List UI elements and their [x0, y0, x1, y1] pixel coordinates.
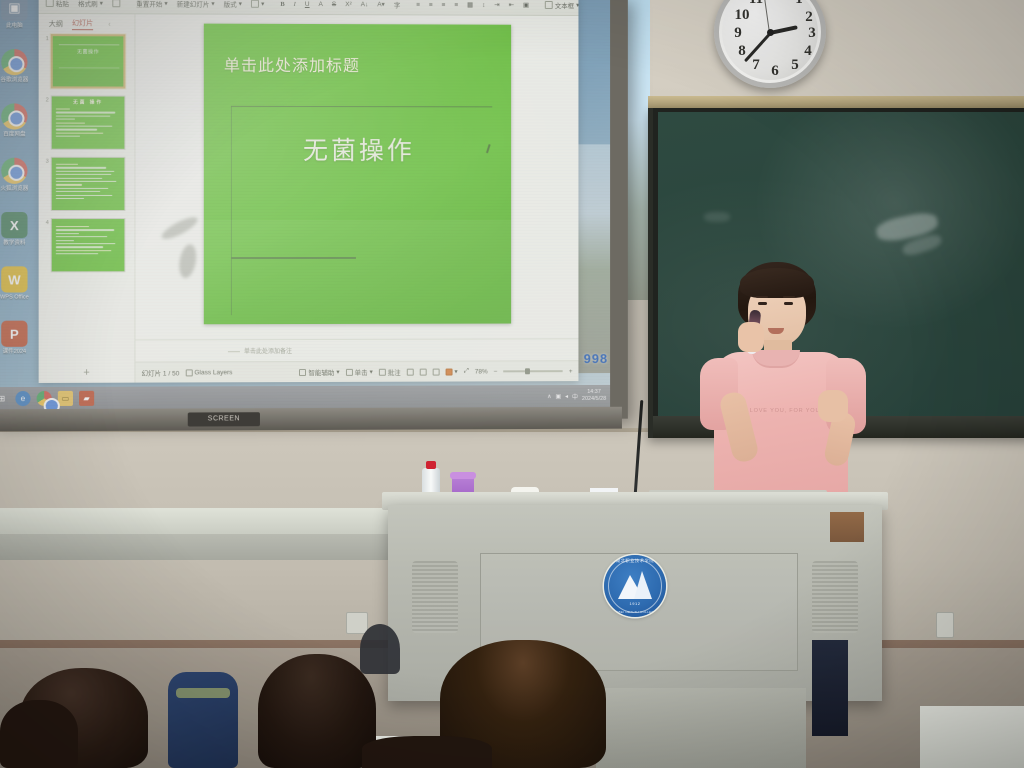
start-button[interactable]: ⊞ [0, 391, 9, 406]
desktop-icon-list: ▣ 此电脑 谷歌浏览器 百度网盘 火狐浏览器 [0, 0, 39, 375]
this-pc-glyph: ▣ [1, 0, 27, 21]
slideshow-button[interactable]: ▾ [446, 368, 458, 376]
chrome-glyph [1, 103, 27, 129]
instructor: LOVE YOU, FOR YOU [690, 262, 870, 512]
thumbnail-row[interactable]: 1 无菌操作 [43, 34, 131, 88]
podium-speaker-right [812, 561, 858, 633]
collapse-panel-icon[interactable]: ‹ [108, 21, 110, 28]
chrome-icon[interactable] [37, 390, 52, 405]
thumbnail-row[interactable]: 4 [43, 218, 131, 272]
powerpoint-icon[interactable]: P 课件2024 [0, 321, 37, 369]
zoom-level-label[interactable]: 78% [475, 368, 488, 375]
instructor-eyebrow-left [756, 296, 768, 298]
supply-table-front [0, 534, 392, 560]
slide-lower-tint [204, 220, 511, 324]
desktop-icon-label: WPS Office [0, 294, 37, 301]
backpack [168, 672, 238, 768]
projected-image: ▣ 此电脑 谷歌浏览器 百度网盘 火狐浏览器 [0, 0, 610, 409]
align-right-button[interactable]: ≡ [439, 0, 449, 9]
powerpoint-glyph: P [1, 321, 27, 347]
projector-osd-text: 998 [584, 351, 608, 366]
chrome-glyph [1, 158, 27, 184]
outline-tab[interactable]: 大纲 [49, 19, 63, 29]
instructor-hand-left [738, 322, 764, 352]
thumbnail-body-lines [56, 164, 121, 201]
chalk-smudge [704, 212, 730, 222]
windows-taskbar[interactable]: ⊞ e ▭ ▰ ∧ ▣ ◂ 中 14:37 2024/5/28 [0, 385, 610, 409]
instructor-shirt-text: LOVE YOU, FOR YOU [742, 408, 828, 414]
thumbnail-list[interactable]: 1 无菌操作 2 无菌 操作 [39, 32, 135, 365]
thumbnail-number: 4 [43, 218, 49, 272]
wps-presentation-window[interactable]: 粘贴 格式刷▾ 重置开始▾ 新建幻灯片▾ 版式▾ ▾ B I U A S X² … [39, 0, 579, 383]
slide-thumbnail-4[interactable] [51, 218, 126, 272]
chrome-glyph [1, 49, 27, 75]
network-icon[interactable]: ▣ [556, 393, 562, 400]
line-spacing-button[interactable]: ↕ [479, 0, 488, 9]
font-color-button[interactable]: A▾ [374, 0, 388, 9]
reset-label: 重置开始 [136, 0, 162, 8]
smart-assist-button[interactable]: 智能辅助▾ [299, 367, 339, 377]
edge-icon[interactable]: e [15, 391, 30, 406]
align-left-button[interactable]: ≡ [413, 0, 423, 9]
student-head-5 [362, 736, 492, 768]
slide-thumbnail-3[interactable] [51, 157, 126, 211]
theme-name[interactable]: Glass Layers [185, 369, 232, 376]
seated-person-silhouette [812, 640, 848, 736]
thumbnail-body-lines [56, 109, 121, 140]
clock-numeral: 1 [789, 0, 809, 8]
emblem-mountain-shape-2 [634, 571, 652, 599]
desktop-icon-label: 课件2024 [0, 349, 37, 356]
new-slide-button[interactable]: 新建幻灯片▾ [174, 0, 218, 10]
thumbnail-heading: 无菌 操作 [52, 99, 125, 105]
backpack-strap [176, 688, 230, 698]
theme-label: Glass Layers [194, 369, 232, 376]
clock-center-pin [767, 29, 774, 36]
clock-numeral: 11 [746, 0, 766, 8]
thumbnail-number: 3 [43, 157, 49, 211]
thumbnail-number: 1 [43, 34, 49, 88]
emblem-year: 1912 [604, 601, 666, 606]
zoom-slider[interactable] [503, 370, 562, 372]
clock-numeral: 3 [802, 25, 822, 42]
zoom-in-button[interactable]: + [569, 368, 573, 375]
wps-glyph: W [1, 266, 27, 292]
blackboard-top-molding [648, 96, 1024, 108]
new-slide-label: 新建幻灯片 [177, 0, 210, 9]
volume-icon[interactable]: ◂ [565, 393, 568, 400]
slide-main-heading[interactable]: 无菌操作 [303, 131, 415, 167]
char-spacing-button[interactable]: A↓ [358, 0, 372, 9]
chrome-icon-3[interactable]: 火狐浏览器 [0, 158, 37, 206]
taskbar-clock[interactable]: 14:37 2024/5/28 [582, 389, 606, 403]
instructor-eye-left [758, 302, 767, 305]
zoom-out-button[interactable]: − [494, 368, 498, 375]
emblem-chinese-text: 湖北职业技术学院 [604, 558, 666, 564]
file-explorer-icon[interactable]: ▭ [58, 390, 73, 405]
clock-numeral: 5 [785, 57, 805, 74]
chrome-icon-2[interactable]: 百度网盘 [0, 103, 37, 151]
stool [360, 624, 400, 674]
comment-label: 批注 [388, 367, 401, 377]
slide-thumbnail-2[interactable]: 无菌 操作 [51, 95, 126, 149]
slide-canvas-area[interactable]: 单击此处添加标题 无菌操作 [135, 14, 578, 339]
podium-wood-side [830, 512, 864, 542]
thumbnail-row[interactable]: 2 无菌 操作 [43, 95, 131, 149]
bottle-cap [426, 461, 436, 469]
clock-numeral: 10 [732, 7, 752, 24]
slide-thumbnail-pane[interactable]: 大纲 幻灯片 ‹ 1 无菌操作 [39, 14, 136, 383]
slide-canvas[interactable]: 单击此处添加标题 无菌操作 [204, 24, 511, 325]
thumbnail-number: 2 [43, 95, 49, 149]
indent-decrease-button[interactable]: ⇤ [506, 0, 517, 10]
podium-base [596, 688, 806, 768]
clock-date: 2024/5/28 [582, 396, 606, 403]
desktop-icon-label: 此电脑 [0, 23, 37, 30]
add-slide-button[interactable]: + [39, 365, 135, 383]
section-button[interactable]: ▾ [248, 0, 267, 9]
shadow-button[interactable]: A [316, 0, 326, 9]
thumbnail-title-text: 无菌操作 [53, 48, 124, 55]
student-head-3 [258, 654, 376, 768]
desktop-icon-label: 教学资料 [0, 240, 37, 247]
excel-icon[interactable]: X 教学资料 [0, 212, 37, 260]
wps-body: 大纲 幻灯片 ‹ 1 无菌操作 [39, 14, 579, 383]
text-box-label: 文本框 [555, 0, 574, 10]
smart-assist-label: 智能辅助 [308, 367, 334, 377]
highlight-button[interactable]: 字 [391, 0, 403, 10]
comment-button[interactable]: 批注 [379, 367, 401, 377]
clock-hour-hand [770, 25, 798, 35]
instructor-eye-right [784, 302, 793, 305]
notes-placeholder[interactable]: 单击此处添加备注 [244, 346, 292, 355]
paste-button[interactable]: 粘贴 [43, 0, 72, 9]
podium-speaker-left [412, 561, 458, 633]
clock-numeral: 2 [799, 9, 819, 26]
format-painter-label: 格式刷 [78, 0, 98, 8]
instructor-hair-fringe [740, 268, 814, 298]
copy-button[interactable] [109, 0, 123, 8]
slide-title-placeholder[interactable]: 单击此处添加标题 [224, 52, 360, 76]
clock-numeral: 9 [728, 25, 748, 42]
thumbnail-body-lines [56, 226, 121, 257]
instructor-hand-right [818, 390, 848, 422]
wps-presentation-icon[interactable]: ▰ [79, 390, 94, 405]
strikethrough-button[interactable]: S [329, 0, 339, 9]
zoom-slider-handle[interactable] [525, 368, 530, 374]
wps-icon[interactable]: W WPS Office [0, 266, 37, 314]
layout-button[interactable]: 版式▾ [221, 0, 245, 10]
annotation-button[interactable]: 单击▾ [346, 367, 373, 377]
instructor-eyebrow-right [783, 296, 795, 298]
bold-button[interactable]: B [277, 0, 287, 8]
notes-pane[interactable]: 单击此处添加备注 [135, 338, 578, 361]
format-painter-button[interactable]: 格式刷▾ [75, 0, 106, 9]
reset-button[interactable]: 重置开始▾ [133, 0, 170, 9]
slide-edit-pane[interactable]: 单击此处添加标题 无菌操作 单击此处添加备注 [135, 14, 578, 382]
thumbnail-row[interactable]: 3 [43, 157, 131, 211]
clock-numeral: 6 [765, 63, 785, 80]
indent-increase-button[interactable]: ⇥ [491, 0, 502, 10]
desktop-icon-label: 谷歌浏览器 [0, 77, 37, 84]
fit-to-window-button[interactable]: ⤢ [464, 367, 469, 375]
normal-view-button[interactable] [407, 368, 414, 375]
superscript-button[interactable]: X² [342, 0, 354, 9]
slide-sorter-button[interactable] [420, 368, 427, 375]
italic-button[interactable]: I [291, 0, 299, 8]
annotation-label: 单击 [355, 367, 368, 377]
panel-tab-bar[interactable]: 大纲 幻灯片 ‹ [39, 14, 135, 32]
columns-button[interactable]: ▦ [464, 0, 476, 10]
paste-label: 粘贴 [56, 0, 69, 8]
system-tray[interactable]: ∧ ▣ ◂ 中 14:37 2024/5/28 [547, 389, 606, 403]
cup-lid [450, 472, 476, 479]
emblem-english-text: HUBEI HEALTH COLLEGE [604, 610, 666, 614]
align-center-button[interactable]: ≡ [426, 0, 436, 9]
underline-button[interactable]: U [302, 0, 313, 9]
screen-brand-plate: SCREEN [188, 412, 260, 426]
desktop-icon-label: 火狐浏览器 [0, 186, 37, 193]
thumbnail-tint [53, 69, 124, 86]
text-box-button[interactable]: 文本框▾ [542, 0, 579, 11]
tray-chevron-icon[interactable]: ∧ [547, 393, 551, 400]
justify-button[interactable]: ≡ [451, 0, 461, 9]
slide-thumbnail-1[interactable]: 无菌操作 [51, 34, 126, 88]
text-direction-button[interactable]: ▣ [520, 0, 532, 10]
student-desk-right [920, 706, 1024, 768]
clock-numeral: 12 [765, 0, 785, 2]
desktop-icon-label: 百度网盘 [0, 132, 37, 139]
slides-tab[interactable]: 幻灯片 [72, 18, 93, 30]
classroom-photo: 12 1 2 3 4 5 6 7 8 9 10 11 ▣ 此电脑 [0, 0, 1024, 768]
chrome-icon-1[interactable]: 谷歌浏览器 [0, 49, 37, 97]
this-pc-icon[interactable]: ▣ 此电脑 [0, 0, 37, 43]
college-emblem: 湖北职业技术学院 1912 HUBEI HEALTH COLLEGE [604, 555, 666, 617]
excel-glyph: X [1, 212, 27, 238]
slide-counter: 幻灯片 1 / 50 [141, 367, 179, 377]
status-bar[interactable]: 幻灯片 1 / 50 Glass Layers 智能辅助▾ 单击▾ 批注 ▾ ⤢… [135, 360, 578, 382]
projector-screen: ▣ 此电脑 谷歌浏览器 百度网盘 火狐浏览器 [0, 0, 628, 421]
student-head-2 [0, 700, 78, 768]
screen-bottom-bar [0, 407, 622, 432]
ime-indicator[interactable]: 中 [572, 392, 578, 401]
wall-outlet-right [936, 612, 954, 638]
reading-view-button[interactable] [433, 368, 440, 375]
layout-label: 版式 [224, 0, 237, 9]
